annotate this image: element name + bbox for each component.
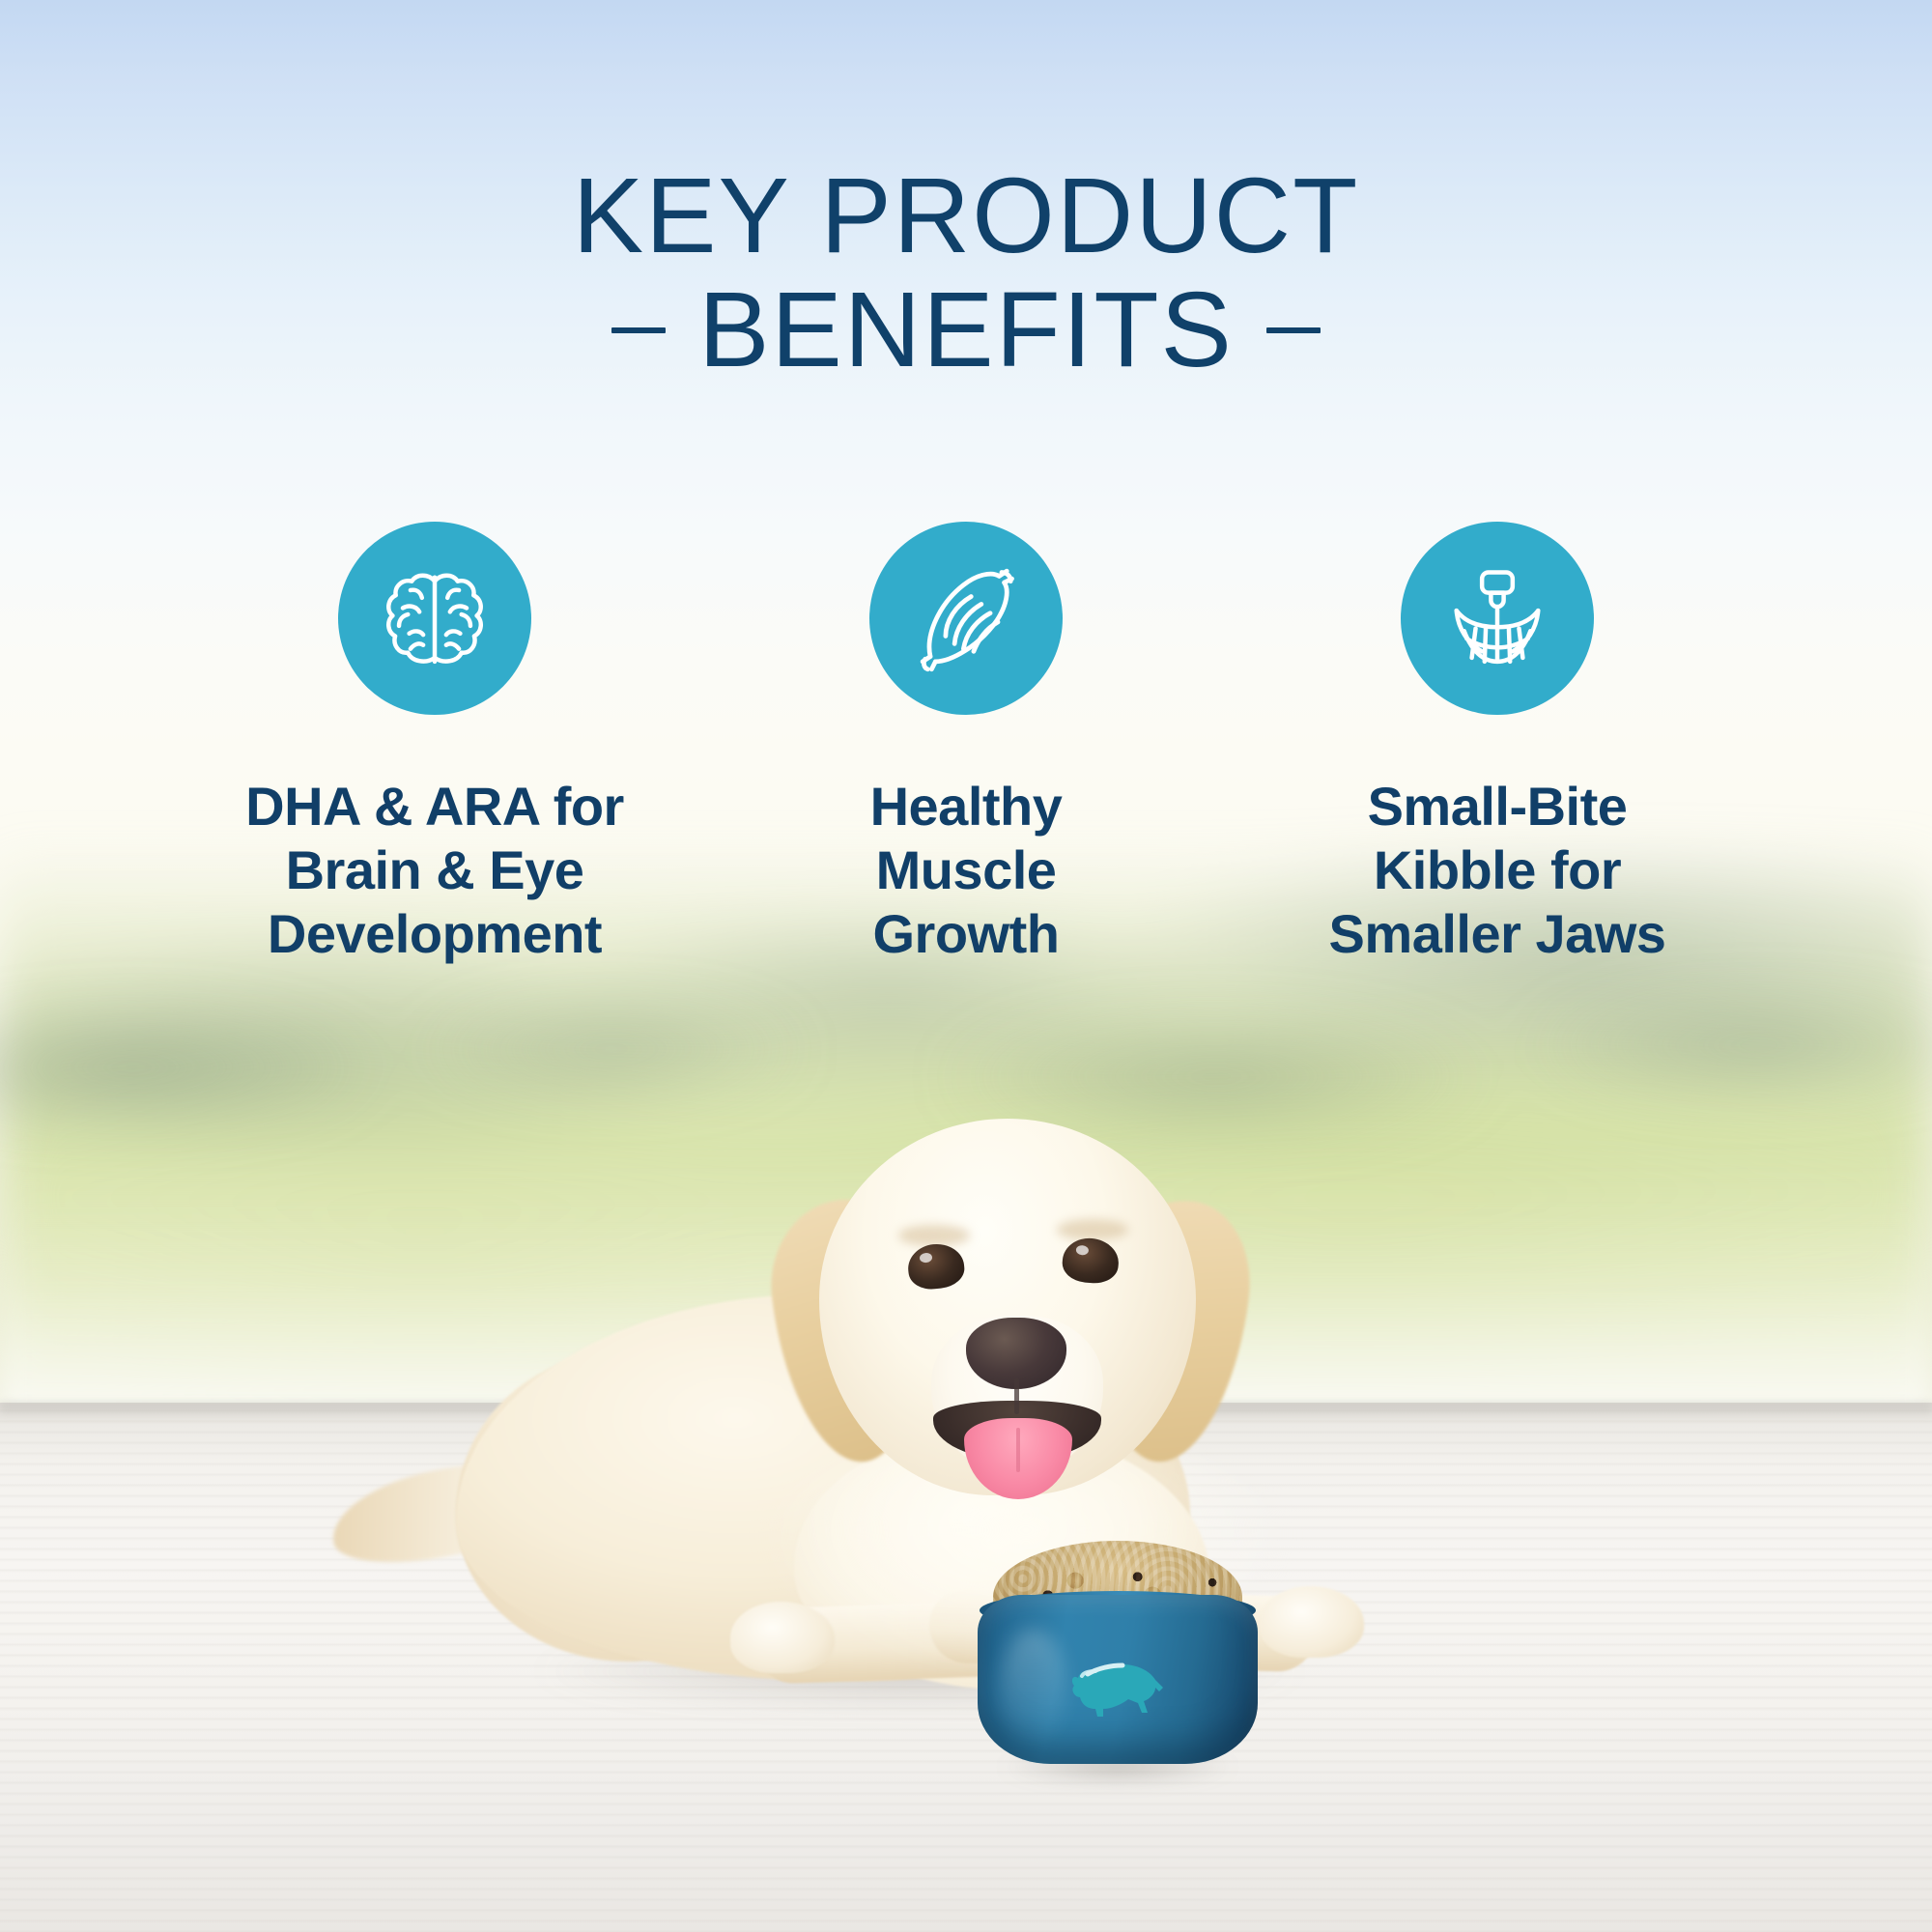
dog-food-bowl <box>978 1541 1258 1792</box>
benefit-icon-badge <box>338 522 531 715</box>
key-product-benefits-graphic: KEY PRODUCT BENEFITS <box>0 0 1932 1932</box>
headline-line-2-row: BENEFITS <box>0 276 1932 384</box>
benefit-item-dha-ara: DHA & ARA for Brain & Eye Development <box>208 522 662 966</box>
buffalo-logo-icon <box>1059 1649 1175 1724</box>
muscle-fiber-icon <box>902 554 1030 682</box>
benefits-row: DHA & ARA for Brain & Eye Development <box>0 522 1932 966</box>
jaw-teeth-icon <box>1434 554 1561 682</box>
benefit-item-muscle: Healthy Muscle Growth <box>739 522 1193 966</box>
headline-line-2: BENEFITS <box>698 276 1234 384</box>
benefit-icon-badge <box>1401 522 1594 715</box>
benefit-item-small-bite: Small-Bite Kibble for Smaller Jaws <box>1270 522 1724 966</box>
benefit-label: Small-Bite Kibble for Smaller Jaws <box>1329 775 1666 966</box>
puppy-brow-left <box>898 1225 970 1246</box>
page-title: KEY PRODUCT BENEFITS <box>0 162 1932 384</box>
dash-left-icon <box>611 327 666 333</box>
dash-right-icon <box>1266 327 1321 333</box>
benefit-label: DHA & ARA for Brain & Eye Development <box>245 775 624 966</box>
brain-icon <box>371 554 498 682</box>
golden-retriever-puppy <box>340 1111 1490 1739</box>
benefit-icon-badge <box>869 522 1063 715</box>
puppy-brow-right <box>1057 1219 1128 1240</box>
benefit-label: Healthy Muscle Growth <box>870 775 1063 966</box>
bowl-highlight <box>1001 1630 1066 1746</box>
headline-line-1: KEY PRODUCT <box>0 162 1932 270</box>
